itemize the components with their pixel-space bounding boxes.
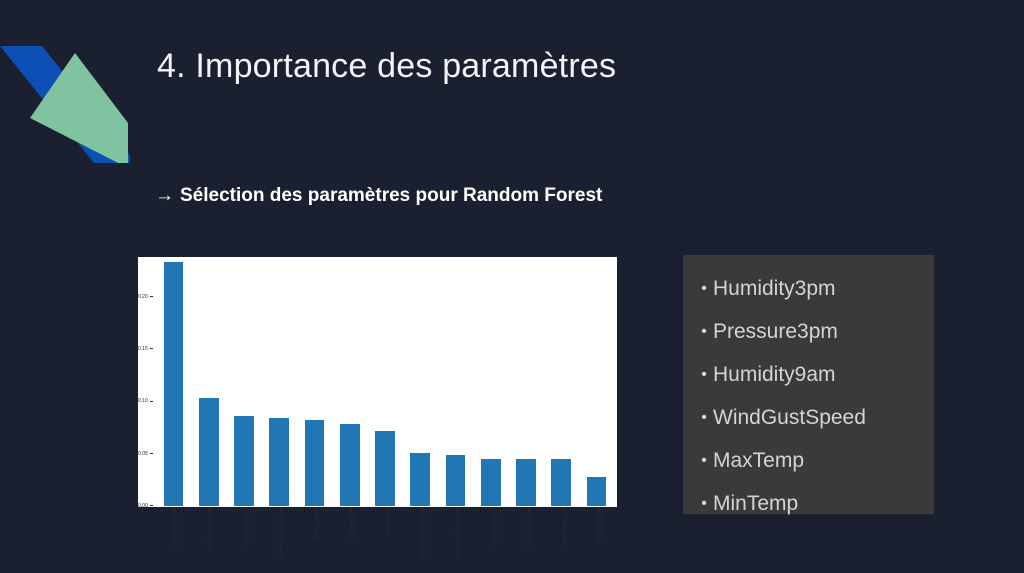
list-item-label: WindGustSpeed bbox=[713, 406, 866, 430]
bar-slot bbox=[297, 263, 332, 506]
bar-WindGustDir bbox=[551, 459, 571, 506]
list-item-label: Humidity9am bbox=[713, 363, 836, 387]
bar-slot bbox=[473, 263, 508, 506]
bar-WindGustSpeed bbox=[269, 418, 289, 506]
x-label-slot: WindSpeed9am bbox=[440, 509, 475, 571]
bar-WindSpeed9am bbox=[446, 455, 466, 506]
x-tick-label: RainToday bbox=[596, 513, 602, 542]
bar-Pressure3pm bbox=[199, 398, 219, 506]
bar-RainToday bbox=[587, 477, 607, 506]
bullet-icon: • bbox=[695, 410, 713, 426]
x-tick-mark bbox=[564, 509, 565, 512]
x-tick-label: WindGustDir bbox=[561, 513, 567, 548]
bar-slot bbox=[226, 263, 261, 506]
bar-MinTemp bbox=[340, 424, 360, 506]
bar-slot bbox=[191, 263, 226, 506]
list-item-label: MaxTemp bbox=[713, 449, 804, 473]
list-item: •Humidity9am bbox=[683, 353, 934, 396]
bar-Rainfall bbox=[375, 431, 395, 506]
y-tick-label: 0.20 bbox=[138, 294, 153, 300]
x-tick-mark bbox=[493, 509, 494, 512]
x-label-slot: RainToday bbox=[582, 509, 617, 571]
bar-slot bbox=[579, 263, 614, 506]
x-label-slot: WindGustSpeed bbox=[262, 509, 297, 571]
x-tick-label: WindGustSpeed bbox=[277, 513, 283, 558]
x-label-slot: MaxTemp bbox=[298, 509, 333, 571]
y-tick-label: 0.05 bbox=[138, 451, 153, 457]
list-item-label: Pressure3pm bbox=[713, 320, 838, 344]
bar-WindSpeed3pm bbox=[410, 453, 430, 506]
bar-slot bbox=[156, 263, 191, 506]
x-label-slot: Humidity3pm bbox=[156, 509, 191, 571]
x-label-slot: WindSpeed3pm bbox=[404, 509, 439, 571]
page-title: 4. Importance des paramètres bbox=[157, 47, 616, 86]
x-label-slot: MinTemp bbox=[333, 509, 368, 571]
bullet-icon: • bbox=[695, 367, 713, 383]
subtitle: →Sélection des paramètres pour Random Fo… bbox=[155, 185, 602, 207]
subtitle-text: Sélection des paramètres pour Random For… bbox=[180, 185, 602, 206]
bar-slot bbox=[508, 263, 543, 506]
bullet-icon: • bbox=[695, 496, 713, 512]
logo-parallelograms bbox=[0, 28, 130, 163]
list-item: •WindGustSpeed bbox=[683, 396, 934, 439]
bullet-icon: • bbox=[695, 281, 713, 297]
selected-features-list: •Humidity3pm•Pressure3pm•Humidity9am•Win… bbox=[683, 255, 934, 514]
x-tick-mark bbox=[316, 509, 317, 512]
x-tick-mark bbox=[245, 509, 246, 512]
bar-Humidity9am bbox=[234, 416, 254, 506]
list-item: •Humidity3pm bbox=[683, 267, 934, 310]
bar-slot bbox=[544, 263, 579, 506]
list-item-label: MinTemp bbox=[713, 492, 798, 516]
list-item: •MinTemp bbox=[683, 482, 934, 525]
y-tick-label: 0.10 bbox=[138, 398, 153, 404]
x-tick-mark bbox=[422, 509, 423, 512]
x-tick-mark bbox=[528, 509, 529, 512]
x-label-slot: WindDir9am bbox=[475, 509, 510, 571]
x-tick-mark bbox=[209, 509, 210, 512]
x-label-slot: WindDir3pm bbox=[511, 509, 546, 571]
bar-slot bbox=[438, 263, 473, 506]
x-tick-mark bbox=[174, 509, 175, 512]
x-label-slot: Rainfall bbox=[369, 509, 404, 571]
x-tick-mark bbox=[351, 509, 352, 512]
bar-slot bbox=[403, 263, 438, 506]
bar-slot bbox=[367, 263, 402, 506]
plot-area bbox=[156, 263, 614, 506]
y-tick-label: 0.00 bbox=[138, 503, 153, 509]
bar-series bbox=[156, 263, 614, 506]
bullet-icon: • bbox=[695, 324, 713, 340]
x-tick-label: Pressure3pm bbox=[206, 513, 212, 550]
bullet-icon: • bbox=[695, 453, 713, 469]
x-tick-label: WindDir9am bbox=[490, 513, 496, 547]
x-label-slot: WindGustDir bbox=[546, 509, 581, 571]
x-tick-label: WindSpeed9am bbox=[454, 513, 460, 557]
bar-WindDir9am bbox=[481, 459, 501, 506]
x-tick-label: WindDir3pm bbox=[525, 513, 531, 547]
x-label-slot: Pressure3pm bbox=[191, 509, 226, 571]
x-tick-label: Rainfall bbox=[384, 513, 390, 534]
logo-svg bbox=[0, 28, 130, 163]
bar-WindDir3pm bbox=[516, 459, 536, 506]
feature-importance-chart: 0.000.050.100.150.20 bbox=[138, 257, 617, 507]
x-tick-label: Humidity9am bbox=[242, 513, 248, 549]
y-tick-label: 0.15 bbox=[138, 346, 153, 352]
bar-Humidity3pm bbox=[164, 262, 184, 506]
list-item: •MaxTemp bbox=[683, 439, 934, 482]
x-tick-mark bbox=[457, 509, 458, 512]
x-tick-label: Humidity3pm bbox=[171, 513, 177, 549]
list-item: •Pressure3pm bbox=[683, 310, 934, 353]
bar-slot bbox=[332, 263, 367, 506]
x-label-slot: Humidity9am bbox=[227, 509, 262, 571]
bar-MaxTemp bbox=[305, 420, 325, 506]
x-tick-mark bbox=[387, 509, 388, 512]
x-tick-mark bbox=[280, 509, 281, 512]
list-item-label: Humidity3pm bbox=[713, 277, 836, 301]
arrow-icon: → bbox=[155, 185, 174, 206]
x-tick-label: MaxTemp bbox=[313, 513, 319, 540]
bar-slot bbox=[262, 263, 297, 506]
x-axis-labels: Humidity3pmPressure3pmHumidity9amWindGus… bbox=[156, 509, 617, 571]
x-tick-label: MinTemp bbox=[348, 513, 354, 538]
x-tick-label: WindSpeed3pm bbox=[419, 513, 425, 557]
x-tick-mark bbox=[599, 509, 600, 512]
